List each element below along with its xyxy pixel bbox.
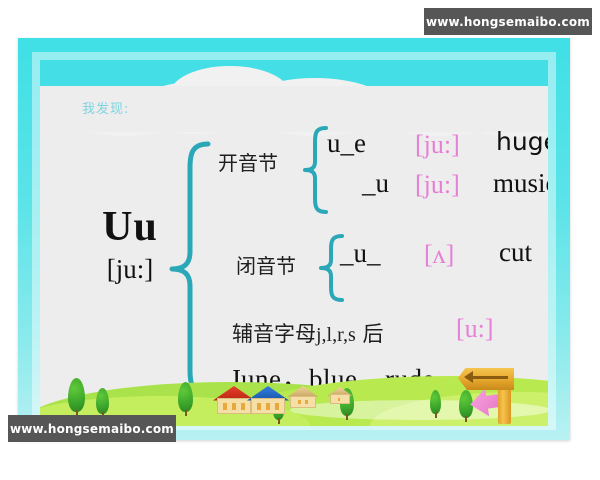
signpost-icon <box>456 368 526 424</box>
tree-icon <box>430 390 441 414</box>
example-closed-1: cut <box>499 237 532 268</box>
phonetic-open-1: [ju:] <box>415 130 460 160</box>
tree-icon <box>68 378 85 412</box>
phonetic-open-2: [ju:] <box>415 170 460 200</box>
label-open-syllable: 开音节 <box>218 147 278 176</box>
house-icon <box>217 386 251 414</box>
consonant-rule-phonetic: [u:] <box>456 314 494 344</box>
pattern-open-1: u_e <box>327 128 366 159</box>
tree-icon <box>96 388 109 414</box>
pattern-closed-1: _u_ <box>340 238 381 269</box>
outer-brace-icon <box>168 140 212 398</box>
house-icon <box>251 386 285 414</box>
watermark-bottom: www.hongsemaibo.com <box>8 415 176 442</box>
slide-frame: 我发现: Uu [ju:] 开音节 u_e [ju:] huge _u [ju:… <box>18 38 570 440</box>
house-icon <box>290 386 316 408</box>
phonetic-closed-1: [ʌ] <box>424 240 454 270</box>
example-open-2: music <box>493 168 548 199</box>
pattern-open-2: _u <box>362 168 389 199</box>
watermark-top: www.hongsemaibo.com <box>424 8 592 35</box>
cloud-decoration <box>40 60 548 130</box>
consonant-rule-letters: j,l,r,s <box>316 324 356 346</box>
found-label: 我发现: <box>82 98 129 117</box>
label-closed-syllable: 闭音节 <box>236 250 296 279</box>
consonant-rule-suffix: 后 <box>356 322 384 346</box>
example-open-1: huge <box>496 127 548 156</box>
tree-icon <box>178 382 193 412</box>
consonant-rule-prefix: 辅音字母 <box>232 322 316 346</box>
open-syllable-brace-icon <box>302 124 328 216</box>
house-icon <box>330 387 350 404</box>
consonant-rule-label: 辅音字母j,l,r,s 后 <box>232 318 383 348</box>
signpost-arrow-head <box>464 371 473 383</box>
slide-canvas: 我发现: Uu [ju:] 开音节 u_e [ju:] huge _u [ju:… <box>40 60 548 426</box>
